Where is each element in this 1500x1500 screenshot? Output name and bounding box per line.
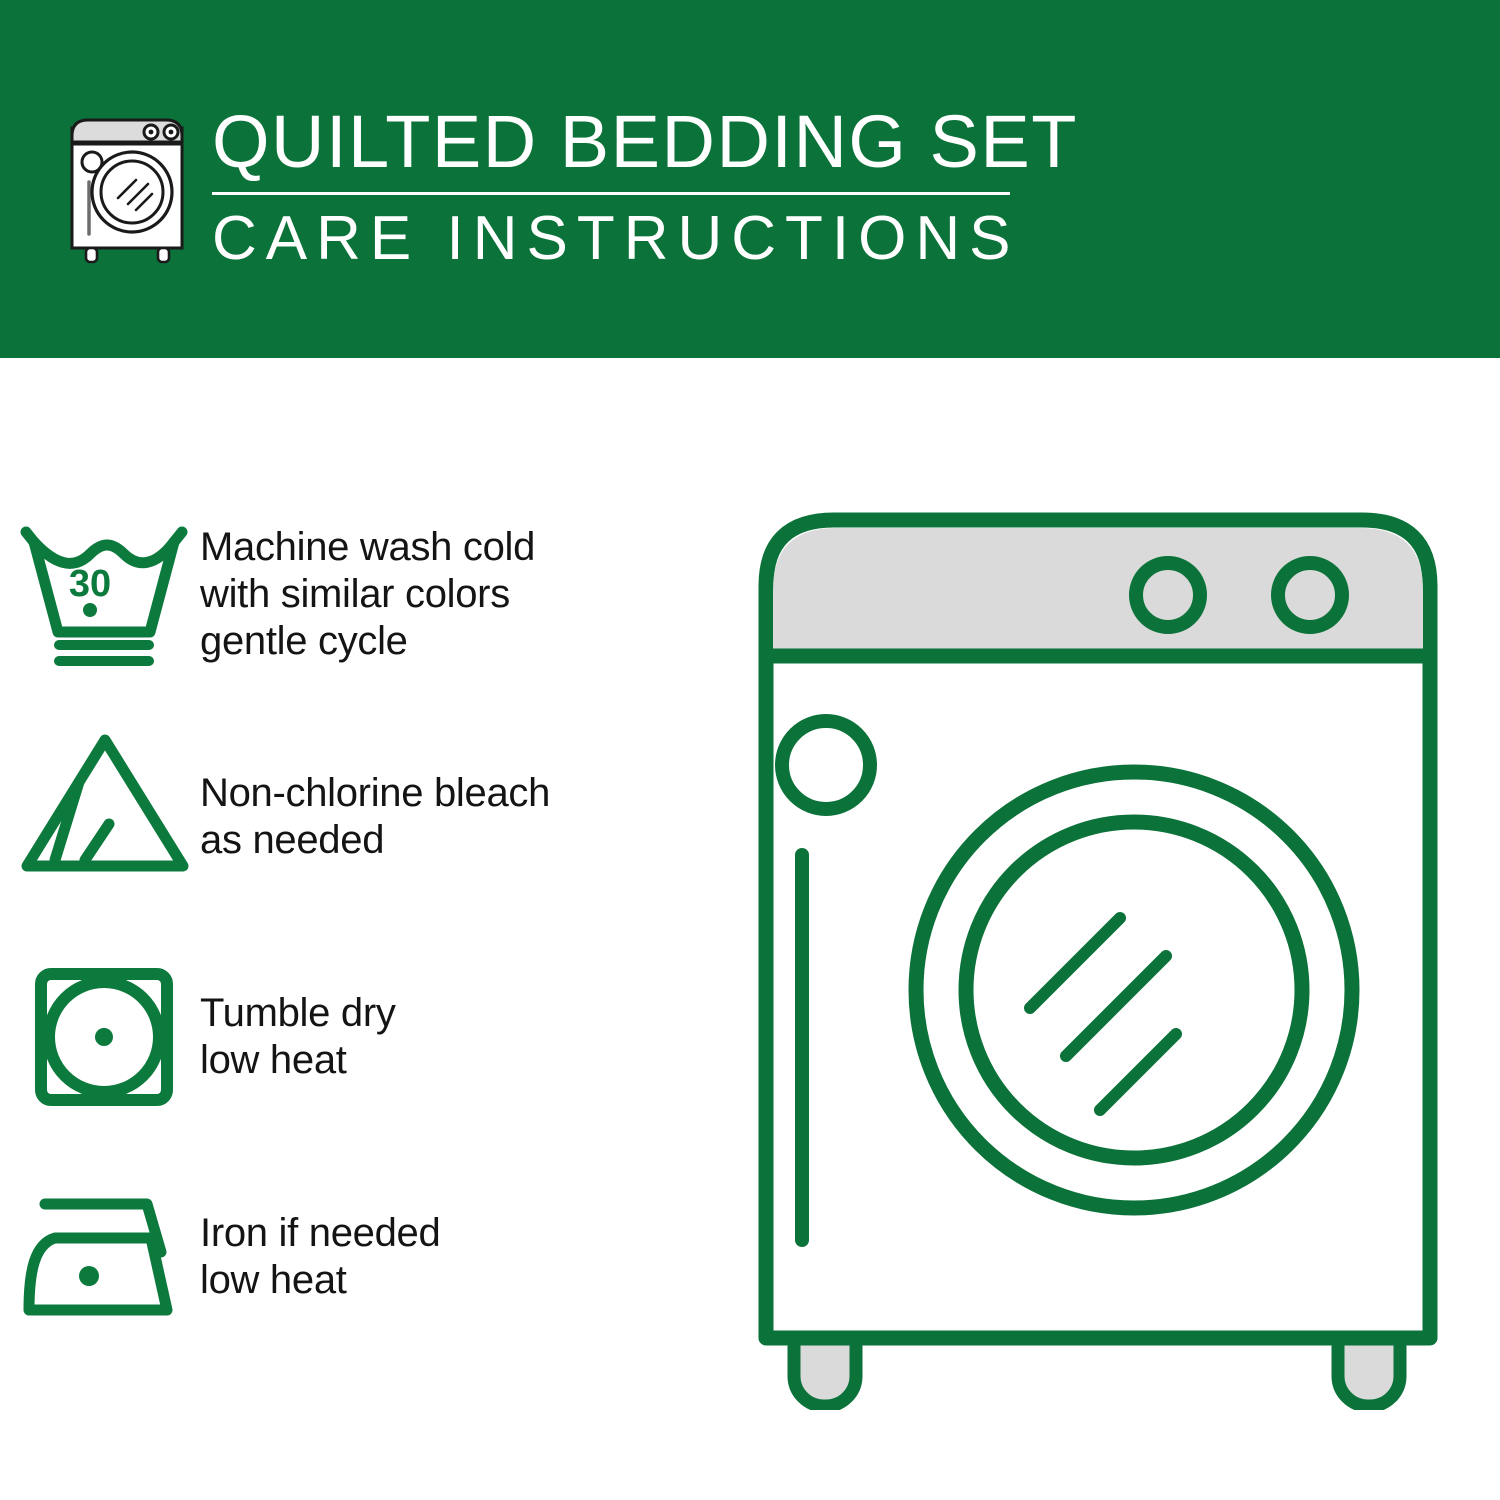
page-header: QUILTED BEDDING SET CARE INSTRUCTIONS bbox=[0, 0, 1500, 358]
non-chlorine-bleach-triangle-icon bbox=[0, 728, 200, 878]
header-text-block: QUILTED BEDDING SET CARE INSTRUCTIONS bbox=[212, 100, 1032, 275]
tumble-dry-low-heat-icon bbox=[0, 962, 200, 1112]
wash-temperature-label: 30 bbox=[69, 563, 111, 605]
page-subtitle: CARE INSTRUCTIONS bbox=[212, 203, 1032, 275]
list-item: Non-chlorine bleach as needed bbox=[0, 728, 740, 878]
wash-tub-30-gentle-icon: 30 bbox=[0, 520, 200, 670]
title-divider bbox=[212, 192, 1010, 195]
label-line: Non-chlorine bleach bbox=[200, 770, 550, 817]
label-line: gentle cycle bbox=[200, 618, 535, 665]
label-line: as needed bbox=[200, 817, 550, 864]
label-line: low heat bbox=[200, 1037, 396, 1084]
list-item: 30 Machine wash cold with similar colors… bbox=[0, 520, 740, 670]
label-line: with similar colors bbox=[200, 571, 535, 618]
washing-machine-icon bbox=[66, 106, 188, 266]
list-item-label: Machine wash cold with similar colors ge… bbox=[200, 520, 535, 665]
list-item-label: Iron if needed low heat bbox=[200, 1192, 440, 1304]
care-instructions-list: 30 Machine wash cold with similar colors… bbox=[0, 500, 740, 1380]
list-item-label: Non-chlorine bleach as needed bbox=[200, 728, 550, 864]
label-line: low heat bbox=[200, 1257, 440, 1304]
list-item: Tumble dry low heat bbox=[0, 962, 740, 1112]
label-line: Machine wash cold bbox=[200, 524, 535, 571]
label-line: Iron if needed bbox=[200, 1210, 440, 1257]
list-item: Iron if needed low heat bbox=[0, 1192, 740, 1322]
front-load-washing-machine-illustration bbox=[748, 500, 1448, 1410]
label-line: Tumble dry bbox=[200, 990, 396, 1037]
iron-low-heat-icon bbox=[0, 1192, 200, 1322]
page-title: QUILTED BEDDING SET bbox=[212, 100, 1032, 184]
list-item-label: Tumble dry low heat bbox=[200, 962, 396, 1084]
